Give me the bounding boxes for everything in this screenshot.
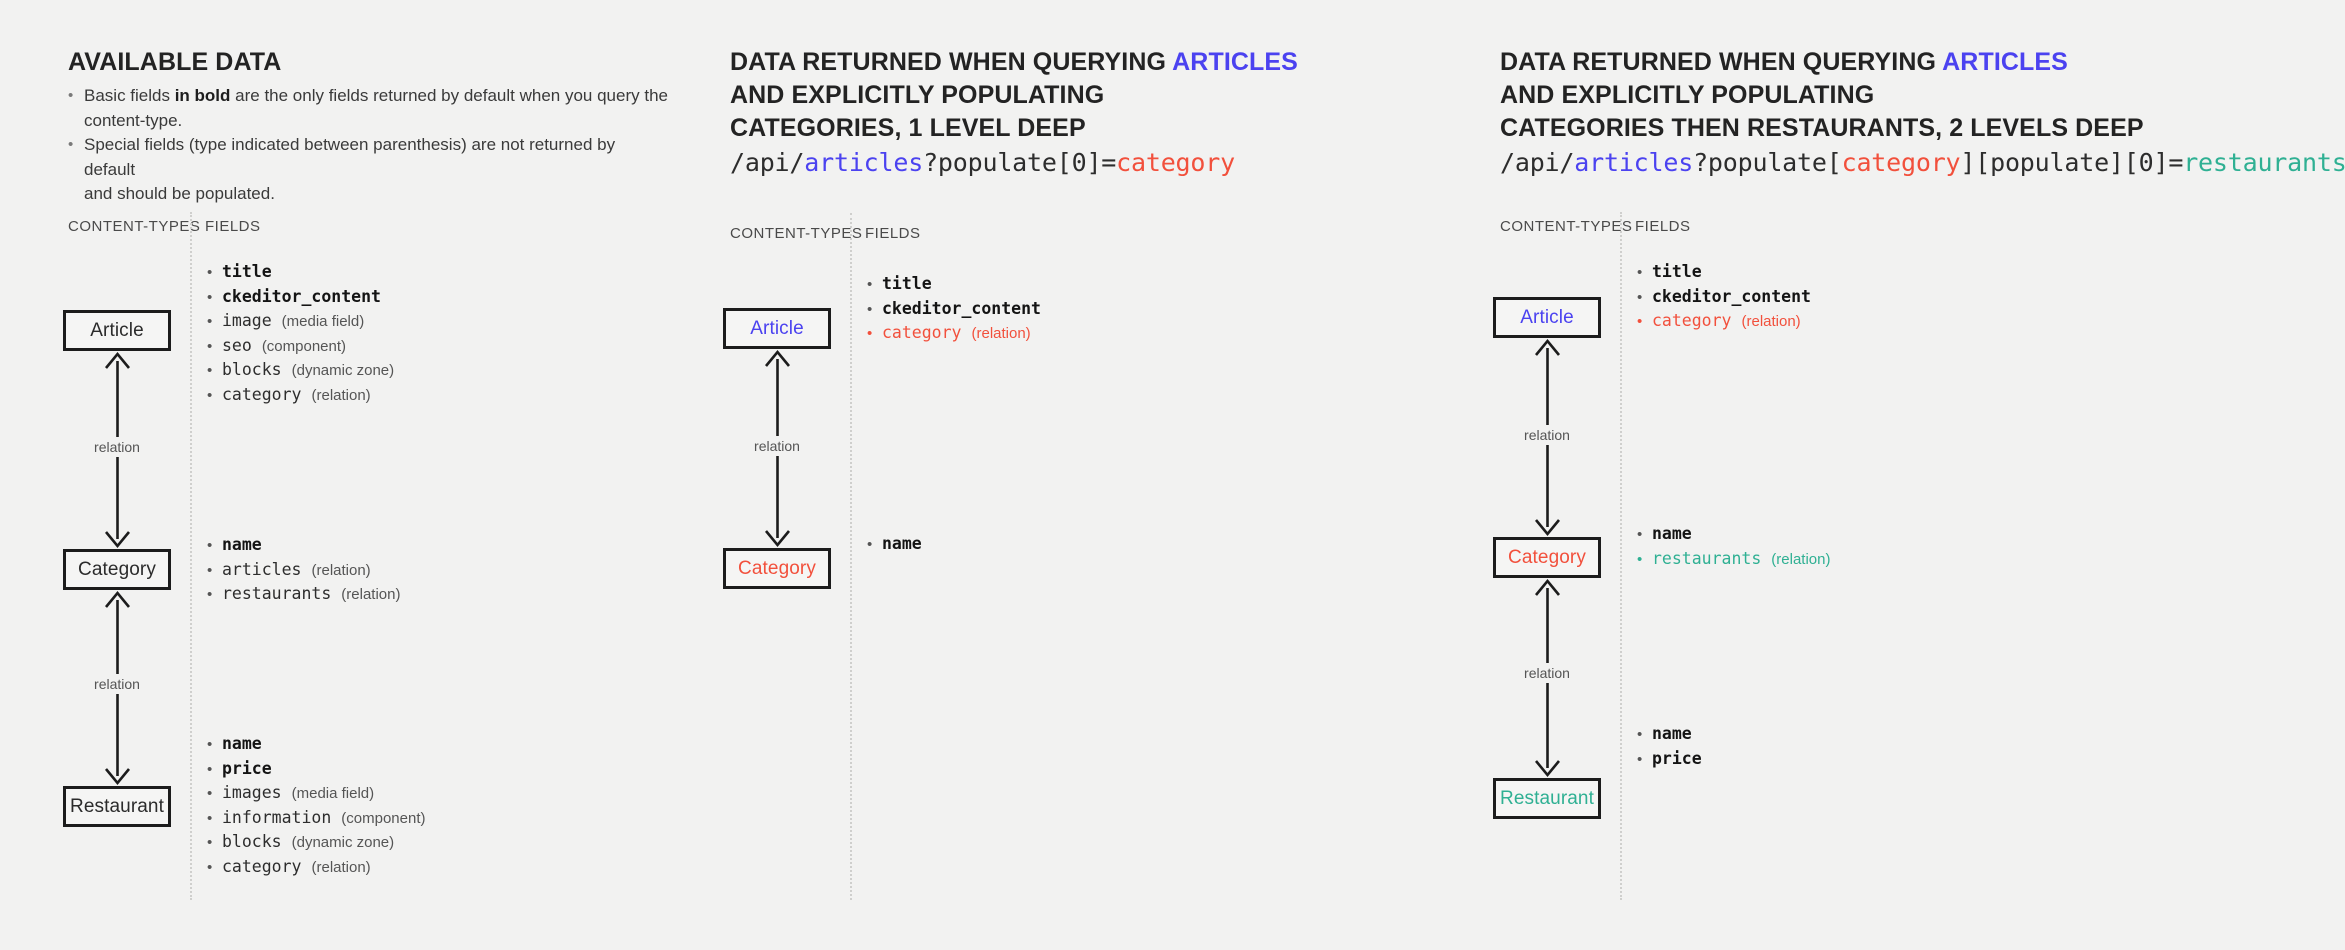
field-type: (relation): [341, 583, 400, 607]
bullet-dot-icon: •: [207, 310, 222, 334]
relation-label: relation: [1519, 663, 1575, 683]
entity-box-article[interactable]: Article: [63, 310, 171, 351]
bullet-dot-icon: •: [207, 856, 222, 880]
note-segment-bold: in bold: [175, 86, 231, 105]
field-row: • title: [867, 272, 1041, 297]
heading-text: CATEGORIES, 1 LEVEL DEEP: [730, 114, 1086, 142]
field-name: name: [222, 732, 262, 756]
api-segment-nested-query: ][populate][0]=: [1960, 148, 2183, 177]
bullet-dot-icon: •: [68, 133, 84, 158]
bullet-dot-icon: •: [207, 758, 222, 782]
field-row: • articles (relation): [207, 558, 400, 583]
entity-box-article[interactable]: Article: [1493, 297, 1601, 338]
field-row: • images (media field): [207, 781, 426, 806]
caption-fields: FIELDS: [865, 225, 921, 242]
field-type: (media field): [292, 782, 375, 806]
column-1-heading: AVAILABLE DATA: [68, 46, 281, 79]
field-name: images: [222, 781, 282, 805]
api-segment-query: ?populate[0]=: [923, 148, 1116, 177]
field-type: (relation): [311, 384, 370, 408]
api-segment-base: /api/: [730, 148, 804, 177]
note-segment: Basic fields: [84, 86, 175, 105]
relation-label: relation: [1519, 425, 1575, 445]
field-name: image: [222, 309, 272, 333]
field-row: • category (relation): [867, 321, 1041, 346]
field-name: price: [222, 757, 272, 781]
field-type: (relation): [971, 322, 1030, 346]
field-row: • name: [207, 533, 400, 558]
bullet-dot-icon: •: [1637, 261, 1652, 285]
bullet-dot-icon: •: [207, 831, 222, 855]
note-text: Special fields (type indicated between p…: [84, 133, 668, 207]
fields-restaurant: • name • price: [1637, 722, 1702, 771]
field-row: • title: [207, 260, 394, 285]
bullet-dot-icon: •: [867, 273, 882, 297]
heading-accent: ARTICLES: [1942, 48, 2068, 76]
fields-category: • name • restaurants (relation): [1637, 522, 1830, 571]
entity-box-article[interactable]: Article: [723, 308, 831, 349]
field-name: ckeditor_content: [882, 297, 1041, 321]
api-path-2-levels[interactable]: /api/articles?populate[category][populat…: [1500, 148, 2345, 177]
field-row: • category (relation): [207, 855, 426, 880]
fields-article: • title • ckeditor_content • category (r…: [1637, 260, 1811, 334]
bullet-dot-icon: •: [867, 322, 882, 346]
field-row: • name: [1637, 722, 1702, 747]
column-2-divider: [850, 213, 852, 900]
entity-box-restaurant[interactable]: Restaurant: [1493, 778, 1601, 819]
heading-line: AND EXPLICITLY POPULATING: [1500, 79, 2144, 112]
api-segment-populate-value: restaurants: [2183, 148, 2345, 177]
field-name: category: [222, 855, 301, 879]
bullet-dot-icon: •: [1637, 748, 1652, 772]
field-row: • price: [207, 757, 426, 782]
field-name: information: [222, 806, 331, 830]
heading-line: CATEGORIES, 1 LEVEL DEEP: [730, 112, 1298, 145]
field-name: price: [1652, 747, 1702, 771]
field-name: restaurants: [1652, 547, 1761, 571]
note-continuation: and should be populated.: [84, 182, 668, 207]
fields-restaurant: • name • price • images (media field) • …: [207, 732, 426, 879]
bullet-dot-icon: •: [207, 384, 222, 408]
field-row: • ckeditor_content: [867, 297, 1041, 322]
column-3-divider: [1620, 212, 1622, 900]
api-segment-base: /api/: [1500, 148, 1574, 177]
field-type: (relation): [311, 856, 370, 880]
fields-category: • name: [867, 532, 922, 557]
relation-label: relation: [89, 674, 145, 694]
caption-fields: FIELDS: [205, 218, 261, 235]
caption-content-types: CONTENT-TYPES: [730, 225, 862, 242]
caption-content-types: CONTENT-TYPES: [1500, 218, 1632, 235]
api-path-1-level[interactable]: /api/articles?populate[0]=category: [730, 148, 1235, 177]
field-type: (dynamic zone): [292, 359, 395, 383]
heading-text: AND EXPLICITLY POPULATING: [730, 81, 1104, 109]
entity-label: Restaurant: [1500, 788, 1594, 810]
fields-category: • name • articles (relation) • restauran…: [207, 533, 400, 607]
bullet-dot-icon: •: [867, 298, 882, 322]
field-row: • image (media field): [207, 309, 394, 334]
bullet-dot-icon: •: [68, 84, 84, 109]
field-type: (relation): [1771, 548, 1830, 572]
bullet-dot-icon: •: [207, 534, 222, 558]
api-segment-query: ?populate[: [1693, 148, 1842, 177]
field-name: category: [1652, 309, 1731, 333]
note-text: Basic fields in bold are the only fields…: [84, 84, 668, 133]
bullet-dot-icon: •: [1637, 523, 1652, 547]
bullet-dot-icon: •: [207, 335, 222, 359]
bullet-dot-icon: •: [207, 782, 222, 806]
field-type: (media field): [282, 310, 365, 334]
column-1-notes: • Basic fields in bold are the only fiel…: [68, 84, 668, 207]
field-name: articles: [222, 558, 301, 582]
heading-line: AND EXPLICITLY POPULATING: [730, 79, 1298, 112]
field-name: name: [882, 532, 922, 556]
column-3-heading: DATA RETURNED WHEN QUERYING ARTICLES AND…: [1500, 46, 2144, 145]
entity-label: Article: [750, 318, 804, 340]
field-type: (relation): [311, 559, 370, 583]
entity-box-category[interactable]: Category: [1493, 537, 1601, 578]
bullet-dot-icon: •: [207, 261, 222, 285]
entity-label: Category: [78, 559, 156, 581]
field-name: title: [222, 260, 272, 284]
heading-line: DATA RETURNED WHEN QUERYING ARTICLES: [1500, 46, 2144, 79]
column-1-divider: [190, 212, 192, 900]
field-name: name: [1652, 722, 1692, 746]
field-row: • name: [867, 532, 922, 557]
bullet-dot-icon: •: [1637, 723, 1652, 747]
fields-article: • title • ckeditor_content • category (r…: [867, 272, 1041, 346]
heading-text: CATEGORIES THEN RESTAURANTS, 2 LEVELS DE…: [1500, 114, 2144, 142]
field-row: • category (relation): [1637, 309, 1811, 334]
entity-label: Category: [1508, 547, 1586, 569]
field-type: (dynamic zone): [292, 831, 395, 855]
bullet-dot-icon: •: [207, 286, 222, 310]
column-populate-1-level: DATA RETURNED WHEN QUERYING ARTICLES AND…: [660, 0, 1430, 950]
caption-content-types: CONTENT-TYPES: [68, 218, 200, 235]
field-row: • restaurants (relation): [1637, 547, 1830, 572]
bullet-dot-icon: •: [1637, 310, 1652, 334]
field-row: • seo (component): [207, 334, 394, 359]
entity-box-category[interactable]: Category: [63, 549, 171, 590]
field-name: ckeditor_content: [222, 285, 381, 309]
field-name: category: [222, 383, 301, 407]
field-row: • restaurants (relation): [207, 582, 400, 607]
field-name: category: [882, 321, 961, 345]
bullet-dot-icon: •: [207, 807, 222, 831]
relation-label: relation: [89, 437, 145, 457]
entity-label: Restaurant: [70, 796, 164, 818]
entity-box-restaurant[interactable]: Restaurant: [63, 786, 171, 827]
diagram-canvas: AVAILABLE DATA • Basic fields in bold ar…: [0, 0, 2345, 950]
caption-fields: FIELDS: [1635, 218, 1691, 235]
entity-label: Article: [1520, 307, 1574, 329]
fields-article: • title • ckeditor_content • image (medi…: [207, 260, 394, 407]
heading-text: AVAILABLE DATA: [68, 48, 281, 76]
field-row: • name: [1637, 522, 1830, 547]
bullet-dot-icon: •: [207, 583, 222, 607]
heading-text: AND EXPLICITLY POPULATING: [1500, 81, 1874, 109]
field-name: name: [1652, 522, 1692, 546]
entity-box-category[interactable]: Category: [723, 548, 831, 589]
field-name: blocks: [222, 358, 282, 382]
field-row: • price: [1637, 747, 1702, 772]
field-type: (component): [341, 807, 425, 831]
entity-label: Category: [738, 558, 816, 580]
field-name: blocks: [222, 830, 282, 854]
api-segment-resource: articles: [1574, 148, 1693, 177]
field-name: seo: [222, 334, 252, 358]
note-item: • Special fields (type indicated between…: [68, 133, 668, 207]
field-row: • information (component): [207, 806, 426, 831]
heading-line: DATA RETURNED WHEN QUERYING ARTICLES: [730, 46, 1298, 79]
note-item: • Basic fields in bold are the only fiel…: [68, 84, 668, 133]
field-name: title: [1652, 260, 1702, 284]
heading-accent: ARTICLES: [1172, 48, 1298, 76]
bullet-dot-icon: •: [207, 733, 222, 757]
column-2-heading: DATA RETURNED WHEN QUERYING ARTICLES AND…: [730, 46, 1298, 145]
heading-line: AVAILABLE DATA: [68, 46, 281, 79]
field-name: name: [222, 533, 262, 557]
heading-text: DATA RETURNED WHEN QUERYING: [1500, 48, 1942, 76]
field-name: ckeditor_content: [1652, 285, 1811, 309]
field-row: • blocks (dynamic zone): [207, 358, 394, 383]
api-segment-populate-value: category: [1116, 148, 1235, 177]
field-row: • ckeditor_content: [207, 285, 394, 310]
bullet-dot-icon: •: [1637, 286, 1652, 310]
field-row: • blocks (dynamic zone): [207, 830, 426, 855]
field-name: title: [882, 272, 932, 296]
bullet-dot-icon: •: [207, 559, 222, 583]
heading-text: DATA RETURNED WHEN QUERYING: [730, 48, 1172, 76]
heading-line: CATEGORIES THEN RESTAURANTS, 2 LEVELS DE…: [1500, 112, 2144, 145]
field-row: • title: [1637, 260, 1811, 285]
field-row: • category (relation): [207, 383, 394, 408]
field-row: • ckeditor_content: [1637, 285, 1811, 310]
field-type: (component): [262, 335, 346, 359]
column-populate-2-levels: DATA RETURNED WHEN QUERYING ARTICLES AND…: [1430, 0, 2345, 950]
bullet-dot-icon: •: [207, 359, 222, 383]
bullet-dot-icon: •: [867, 533, 882, 557]
api-segment-populate-key: category: [1842, 148, 1961, 177]
note-segment: Special fields (type indicated between p…: [84, 135, 615, 179]
api-segment-resource: articles: [804, 148, 923, 177]
field-row: • name: [207, 732, 426, 757]
field-type: (relation): [1741, 310, 1800, 334]
entity-label: Article: [90, 320, 144, 342]
bullet-dot-icon: •: [1637, 548, 1652, 572]
relation-label: relation: [749, 436, 805, 456]
field-name: restaurants: [222, 582, 331, 606]
